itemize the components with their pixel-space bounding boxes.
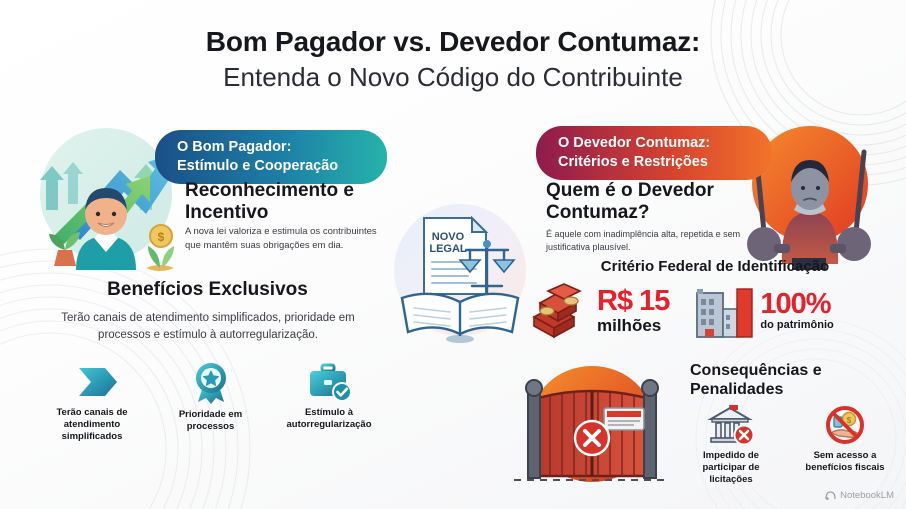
award-ribbon-icon (190, 362, 232, 404)
closed-gate-blocked-illustration (500, 350, 680, 492)
debtor-banner: O Devedor Contumaz: Critérios e Restriçõ… (536, 126, 772, 180)
building-chart-icon (693, 283, 755, 339)
penalty-caption-1: Impedido de participar de licitações (682, 450, 780, 486)
benefits-heading: Benefícios Exclusivos (35, 279, 380, 301)
watermark-label: NotebookLM (840, 490, 894, 501)
infographic-canvas: Bom Pagador vs. Devedor Contumaz: Entend… (0, 0, 906, 509)
good-payer-banner-line2: Estímulo e Cooperação (177, 158, 338, 174)
penalties-icon-row: Impedido de participar de licitações $ S… (682, 405, 894, 486)
document-label-line2: LEGAL (429, 243, 467, 255)
benefit-caption-3: Estímulo à autorregularização (275, 407, 383, 431)
benefits-icon-row: Terão canais de atendimento simplificado… (38, 362, 383, 443)
good-payer-banner-line1: O Bom Pagador: (177, 139, 291, 155)
criteria-stat-2-value: 100% (760, 291, 833, 319)
consequences-heading: Consequências e Penalidades (690, 361, 890, 399)
recognition-heading: Reconhecimento e Incentivo (185, 180, 395, 225)
money-stack-icon (530, 283, 592, 339)
who-is-debtor-body: É aquele com inadimplência alta, repetid… (546, 228, 762, 254)
criteria-heading: Critério Federal de Identificação (530, 258, 900, 275)
benefit-item-3: Estímulo à autorregularização (275, 362, 383, 443)
svg-text:$: $ (158, 230, 165, 244)
benefit-item-2: Prioridade em processos (157, 362, 265, 443)
penalty-item-2: $ Sem acesso a benefícios fiscais (796, 405, 894, 486)
penalty-item-1: Impedido de participar de licitações (682, 405, 780, 486)
title-line-1: Bom Pagador vs. Devedor Contumaz: (0, 26, 906, 58)
penalty-caption-2: Sem acesso a benefícios fiscais (796, 450, 894, 474)
recognition-body: A nova lei valoriza e estimula os contri… (185, 225, 385, 254)
no-benefits-icon: $ (823, 405, 867, 445)
svg-text:$: $ (847, 416, 852, 425)
title-line-2: Entenda o Novo Código do Contribuinte (0, 61, 906, 94)
bank-blocked-icon (707, 405, 755, 445)
criteria-stat-1-value: R$ 15 (597, 288, 669, 316)
benefits-body: Terão canais de atendimento simplificado… (48, 310, 368, 343)
benefit-item-1: Terão canais de atendimento simplificado… (38, 362, 146, 443)
criteria-stat-1-unit: milhões (597, 317, 669, 334)
criteria-stats-row: R$ 15 milhões 100% do (530, 280, 902, 342)
debtor-banner-line2: Critérios e Restrições (558, 154, 708, 170)
document-label-line1: NOVO (432, 231, 465, 243)
benefit-caption-2: Prioridade em processos (157, 409, 265, 433)
page-title: Bom Pagador vs. Devedor Contumaz: Entend… (0, 26, 906, 94)
watermark: NotebookLM (825, 490, 894, 501)
good-payer-banner: O Bom Pagador: Estímulo e Cooperação (155, 130, 387, 184)
debtor-banner-line1: O Devedor Contumaz: (558, 135, 710, 151)
who-is-debtor-heading: Quem é o Devedor Contumaz? (546, 180, 761, 225)
notebooklm-logo-icon (825, 490, 836, 501)
legal-document-scales-book-illustration: NOVO LEGAL (390, 194, 530, 346)
briefcase-check-icon (306, 362, 352, 402)
criteria-stat-2: 100% do patrimônio (693, 283, 833, 339)
criteria-stat-2-unit: do patrimônio (760, 320, 833, 331)
benefit-caption-1: Terão canais de atendimento simplificado… (38, 407, 146, 443)
fast-arrow-icon (65, 362, 119, 402)
criteria-stat-1: R$ 15 milhões (530, 283, 669, 339)
